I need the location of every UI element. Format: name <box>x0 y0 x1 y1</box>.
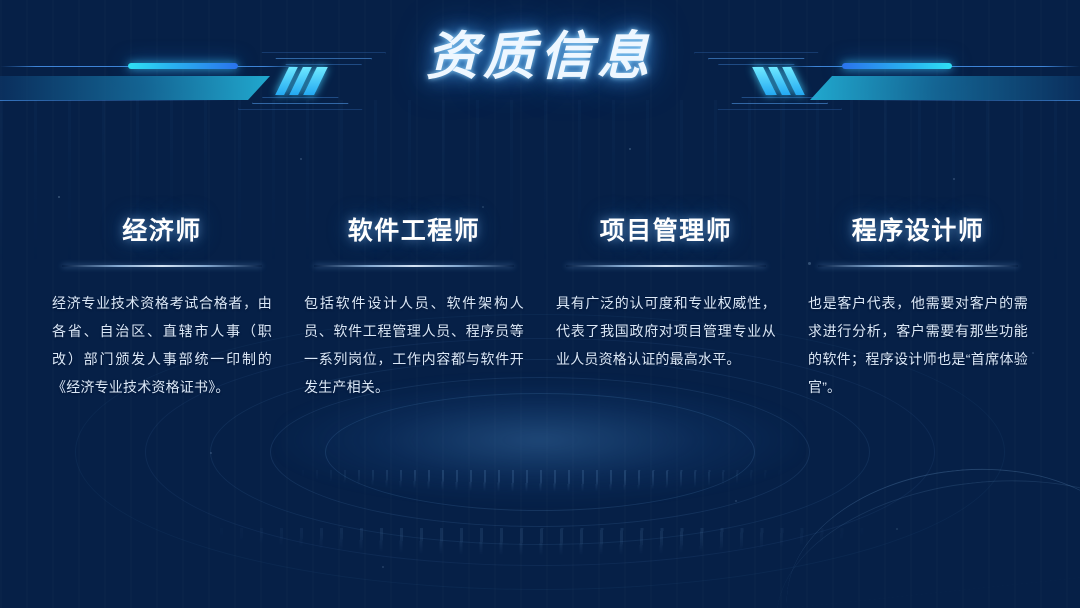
column-divider-1 <box>62 265 262 267</box>
column-body-2: 包括软件设计人员、软件架构人员、软件工程管理人员、程序员等一系列岗位，工作内容都… <box>304 289 524 401</box>
column-divider-3 <box>566 265 766 267</box>
column-body-4: 也是客户代表，他需要对客户的需求进行分析，客户需要有那些功能的软件；程序设计师也… <box>808 289 1028 401</box>
column-title-4: 程序设计师 <box>808 216 1028 246</box>
header-hairline-bottom-left <box>0 100 230 101</box>
column-title-2: 软件工程师 <box>304 216 524 246</box>
slide-root: 资质信息 <box>0 0 1080 608</box>
column-divider-2 <box>314 265 514 267</box>
content-column-4: 程序设计师 也是客户代表，他需要对客户的需求进行分析，客户需要有那些功能的软件；… <box>792 216 1044 401</box>
header-hairline-bottom-right <box>850 100 1080 101</box>
column-title-1: 经济师 <box>52 216 272 246</box>
content-column-3: 项目管理师 具有广泛的认可度和专业权威性，代表了我国政府对项目管理专业从业人员资… <box>540 216 792 401</box>
column-body-3: 具有广泛的认可度和专业权威性，代表了我国政府对项目管理专业从业人员资格认证的最高… <box>556 289 776 373</box>
column-title-3: 项目管理师 <box>556 216 776 246</box>
header-band: 资质信息 <box>0 0 1080 118</box>
content-column-2: 软件工程师 包括软件设计人员、软件架构人员、软件工程管理人员、程序员等一系列岗位… <box>288 216 540 401</box>
column-divider-4 <box>818 265 1018 267</box>
column-body-1: 经济专业技术资格考试合格者，由各省、自治区、直辖市人事（职改）部门颁发人事部统一… <box>52 289 272 401</box>
page-title: 资质信息 <box>0 14 1080 89</box>
content-column-1: 经济师 经济专业技术资格考试合格者，由各省、自治区、直辖市人事（职改）部门颁发人… <box>36 216 288 401</box>
content-columns: 经济师 经济专业技术资格考试合格者，由各省、自治区、直辖市人事（职改）部门颁发人… <box>0 216 1080 401</box>
